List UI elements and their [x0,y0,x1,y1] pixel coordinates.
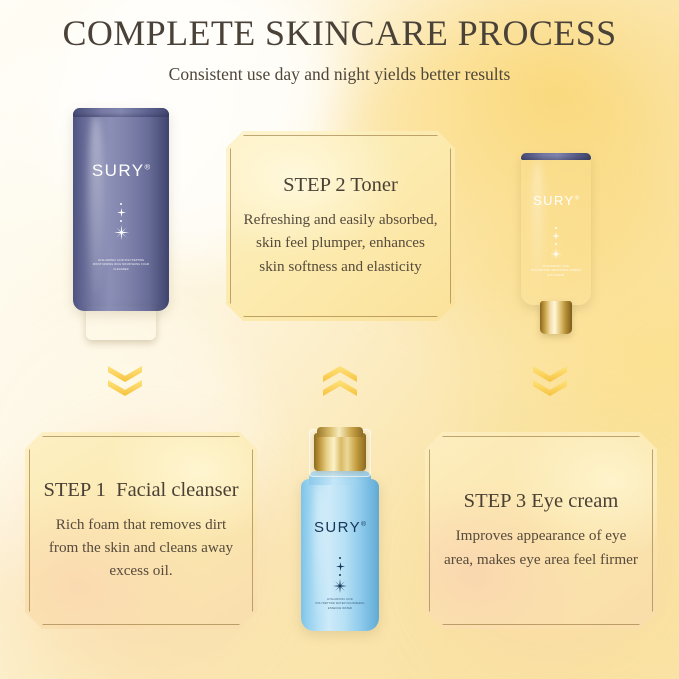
product-toner-bottle: SURY® HYALURONIC ACID POLYPEPTIDE WATER … [297,423,383,633]
step-2-body: Refreshing and easily absorbed, skin fee… [242,208,439,277]
chevron-up-icon [323,366,357,382]
chevron-up-icon [323,380,357,396]
page-title: COMPLETE SKINCARE PROCESS [0,14,679,54]
highlight-sheen [532,159,543,293]
chevron-down-icon [108,380,142,396]
arrow-right-double-chevron-down [523,356,577,406]
step-card-1: STEP 1 Facial cleanser Rich foam that re… [25,432,257,629]
step-2-title: STEP 2 Toner [283,174,398,197]
tube-seam [521,153,591,160]
tube-body [521,153,591,305]
tube-body [73,108,169,311]
highlight-sheen [88,116,103,295]
step-1-body: Rich foam that removes dirt from the ski… [41,513,241,582]
highlight-sheen [313,485,325,619]
skincare-process-poster: COMPLETE SKINCARE PROCESS Consistent use… [0,0,679,679]
step-3-body: Improves appearance of eye area, makes e… [441,524,641,570]
arrow-mid-double-chevron-up [313,356,367,406]
product-cleanser-tube: SURY® HYALURONIC ACID POLYPEPTIDE MOISTU… [73,108,169,338]
step-3-title: STEP 3 Eye cream [464,490,619,513]
arrow-left-double-chevron-down [98,356,152,406]
poster-header: COMPLETE SKINCARE PROCESS Consistent use… [0,14,679,85]
chevron-down-icon [108,366,142,382]
page-subtitle: Consistent use day and night yields bett… [0,64,679,85]
step-1-title: STEP 1 Facial cleanser [43,479,238,502]
tube-cap-gold [540,301,572,334]
step-card-2: STEP 2 Toner Refreshing and easily absor… [226,131,455,321]
step-card-3: STEP 3 Eye cream Improves appearance of … [425,432,657,629]
tube-cap-gold [86,306,156,340]
product-eye-cream-tube: SURY® HYALURONIC ACID POLYPEPTIDE SMOOTH… [521,153,591,331]
bottle-cap-gold [314,433,366,471]
tube-seam [73,108,169,117]
bottle-cap-top [317,427,363,437]
chevron-down-icon [533,366,567,382]
bottle-body [301,479,379,631]
chevron-down-icon [533,380,567,396]
